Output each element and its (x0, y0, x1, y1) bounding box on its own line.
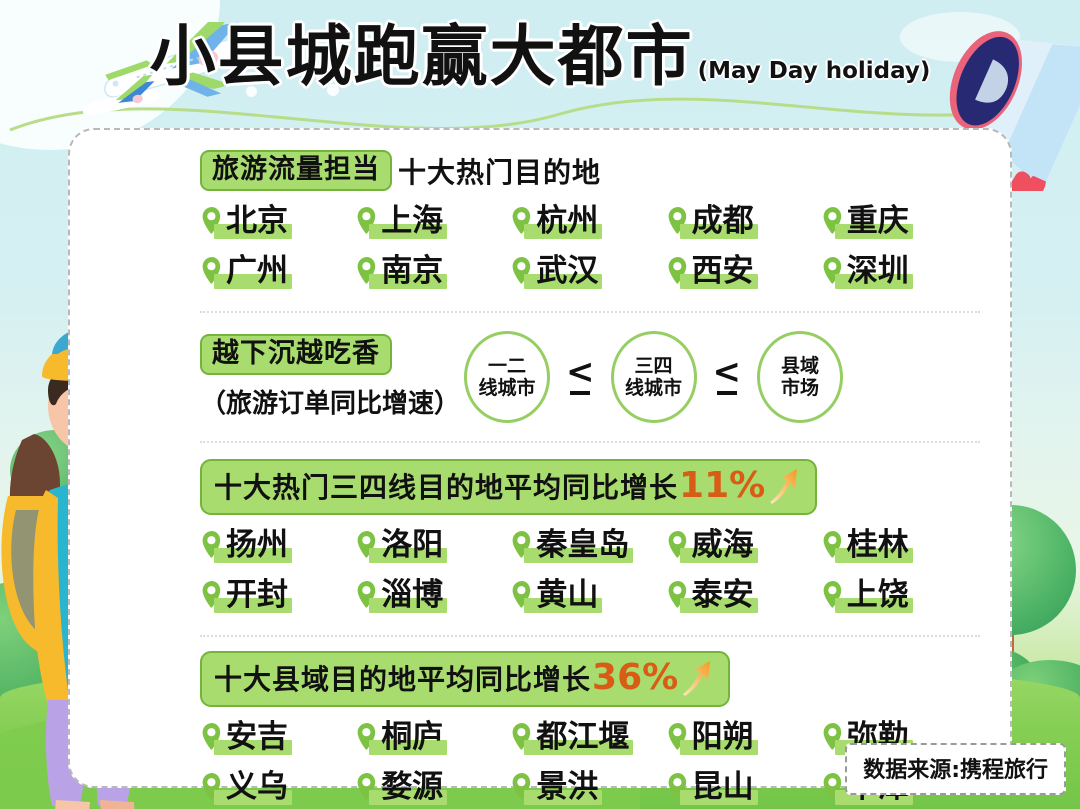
operator-glyph: < (566, 359, 595, 386)
section-header: 旅游流量担当 十大热门目的地 (200, 150, 986, 191)
city-label: 上饶 (847, 580, 909, 611)
growth-percent: 36% (592, 660, 678, 696)
city-label: 义乌 (226, 772, 288, 803)
city-item[interactable]: 景洪 (510, 765, 665, 809)
city-item[interactable]: 泰安 (666, 573, 821, 617)
city-item[interactable]: 洛阳 (355, 523, 510, 567)
city-item[interactable]: 扬州 (200, 523, 355, 567)
city-label: 淄博 (381, 580, 443, 611)
tier-line-1: 一二 (488, 355, 526, 377)
city-label: 北京 (226, 206, 288, 237)
city-item[interactable]: 北京 (200, 199, 355, 243)
city-item[interactable]: 秦皇岛 (510, 523, 665, 567)
tier-line-1: 县域 (781, 355, 819, 377)
tier-comparison-row: 越下沉越吃香 （旅游订单同比增速） 一二 线城市 < 三四 线城市 (200, 331, 986, 423)
city-label: 成都 (692, 206, 754, 237)
growth-arrow-icon (680, 659, 714, 697)
city-item[interactable]: 深圳 (821, 249, 976, 293)
tier-line-2: 市场 (781, 377, 819, 399)
city-label: 武汉 (536, 256, 598, 287)
tier-line-1: 三四 (634, 355, 672, 377)
section-badge: 越下沉越吃香 (200, 334, 392, 375)
growth-percent: 11% (679, 468, 765, 504)
city-label: 西安 (692, 256, 754, 287)
city-label: 桂林 (847, 530, 909, 561)
tier-label-block: 越下沉越吃香 （旅游订单同比增速） (200, 334, 450, 420)
city-label: 重庆 (847, 206, 909, 237)
city-item[interactable]: 广州 (200, 249, 355, 293)
operator-underbar (570, 391, 590, 395)
city-item[interactable]: 杭州 (510, 199, 665, 243)
infographic-root: 旅游流量担当 十大热门目的地 北京 上海 杭州 成都 重庆 广州 南京 武汉 西… (0, 0, 1080, 809)
city-label: 洛阳 (381, 530, 443, 561)
section-subtitle: （旅游订单同比增速） (200, 383, 450, 420)
city-item[interactable]: 上海 (355, 199, 510, 243)
city-item[interactable]: 桂林 (821, 523, 976, 567)
section-heading: 十大县域目的地平均同比增长 (214, 658, 591, 698)
city-label: 威海 (692, 530, 754, 561)
city-item[interactable]: 婺源 (355, 765, 510, 809)
city-label: 都江堰 (536, 722, 629, 753)
section-heading: 十大热门三四线目的地平均同比增长 (214, 466, 678, 506)
city-label: 昆山 (692, 772, 754, 803)
tier-circle: 三四 线城市 (611, 331, 697, 423)
comparison-operator: < (566, 359, 595, 395)
page-subtitle: (May Day holiday) (698, 58, 931, 90)
operator-glyph: < (713, 359, 742, 386)
city-item[interactable]: 阳朔 (666, 715, 821, 759)
section-badge-wide: 十大县域目的地平均同比增长 36% (200, 651, 730, 707)
city-item[interactable]: 都江堰 (510, 715, 665, 759)
content-card: 旅游流量担当 十大热门目的地 北京 上海 杭州 成都 重庆 广州 南京 武汉 西… (68, 128, 1012, 788)
city-label: 深圳 (847, 256, 909, 287)
tier-line-2: 线城市 (625, 377, 682, 399)
city-label: 扬州 (226, 530, 288, 561)
comparison-operator: < (713, 359, 742, 395)
title-block: 小县城跑赢大都市 (May Day holiday) (0, 24, 1080, 90)
city-label: 桐庐 (381, 722, 443, 753)
city-item[interactable]: 昆山 (666, 765, 821, 809)
tier-circle: 县域 市场 (757, 331, 843, 423)
page-title: 小县城跑赢大都市 (150, 24, 694, 90)
city-item[interactable]: 武汉 (510, 249, 665, 293)
section-top-destinations: 旅游流量担当 十大热门目的地 北京 上海 杭州 成都 重庆 广州 南京 武汉 西… (200, 144, 986, 293)
city-item[interactable]: 桐庐 (355, 715, 510, 759)
city-item[interactable]: 黄山 (510, 573, 665, 617)
city-grid: 扬州 洛阳 秦皇岛 威海 桂林 开封 淄博 黄山 泰安 上饶 (200, 523, 986, 617)
city-item[interactable]: 开封 (200, 573, 355, 617)
city-label: 秦皇岛 (536, 530, 629, 561)
section-heading: 十大热门目的地 (398, 151, 601, 191)
city-label: 上海 (381, 206, 443, 237)
city-item[interactable]: 安吉 (200, 715, 355, 759)
section-badge-wide: 十大热门三四线目的地平均同比增长 11% (200, 459, 817, 515)
city-label: 广州 (226, 256, 288, 287)
city-label: 景洪 (536, 772, 598, 803)
city-item[interactable]: 上饶 (821, 573, 976, 617)
tier-circles: 一二 线城市 < 三四 线城市 < 县域 市场 (464, 331, 843, 423)
tier-line-2: 线城市 (478, 377, 535, 399)
city-label: 安吉 (226, 722, 288, 753)
city-item[interactable]: 西安 (666, 249, 821, 293)
city-label: 杭州 (536, 206, 598, 237)
city-label: 阳朔 (692, 722, 754, 753)
data-source-label: 数据来源:携程旅行 (845, 743, 1066, 795)
operator-underbar (717, 391, 737, 395)
city-item[interactable]: 淄博 (355, 573, 510, 617)
city-item[interactable]: 成都 (666, 199, 821, 243)
city-label: 泰安 (692, 580, 754, 611)
city-grid: 北京 上海 杭州 成都 重庆 广州 南京 武汉 西安 深圳 (200, 199, 986, 293)
city-item[interactable]: 威海 (666, 523, 821, 567)
section-tier-growth: 越下沉越吃香 （旅游订单同比增速） 一二 线城市 < 三四 线城市 (200, 313, 986, 423)
city-item[interactable]: 义乌 (200, 765, 355, 809)
city-label: 南京 (381, 256, 443, 287)
city-label: 开封 (226, 580, 288, 611)
growth-arrow-icon (767, 467, 801, 505)
tier-circle: 一二 线城市 (464, 331, 550, 423)
section-tier34-destinations: 十大热门三四线目的地平均同比增长 11% 扬州 洛阳 秦皇岛 威海 桂林 开封 … (200, 443, 986, 617)
section-badge: 旅游流量担当 (200, 150, 392, 191)
city-item[interactable]: 南京 (355, 249, 510, 293)
city-label: 黄山 (536, 580, 598, 611)
city-item[interactable]: 重庆 (821, 199, 976, 243)
city-label: 婺源 (381, 772, 443, 803)
